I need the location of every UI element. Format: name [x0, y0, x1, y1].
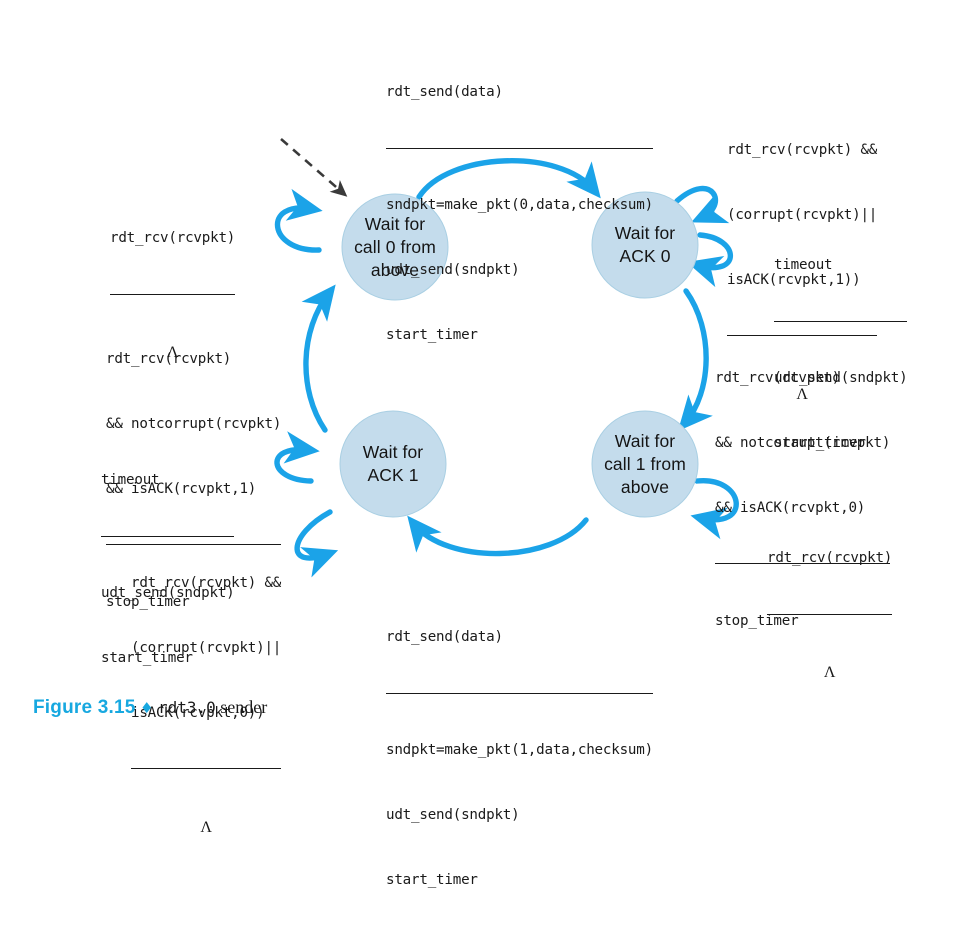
label-rule	[110, 294, 235, 295]
arc-call0-ignore	[277, 208, 319, 250]
event-line: rdt_rcv(rcvpkt)	[110, 228, 235, 250]
figure-subject-code: rdt3.0	[158, 698, 216, 717]
action-line: udt_send(sndpkt)	[386, 260, 653, 282]
action-line: sndpkt=make_pkt(0,data,checksum)	[386, 195, 653, 217]
transition-label-call0-ignore: rdt_rcv(rcvpkt) Λ	[110, 185, 235, 409]
label-rule	[131, 768, 281, 769]
action-line: start_timer	[386, 325, 653, 347]
event-line: rdt_send(data)	[386, 82, 653, 104]
event-line: && notcorrupt(rcvpkt)	[715, 433, 890, 455]
state-circle-wait-ack-1	[340, 411, 446, 517]
event-line: timeout	[774, 255, 907, 277]
label-rule	[106, 544, 281, 545]
event-line: rdt_rcv(rcvpkt)	[715, 368, 890, 390]
figure-subject-text: sender	[216, 697, 267, 717]
action-line: start_timer	[386, 870, 653, 892]
figure-canvas: Wait for call 0 from above Wait for ACK …	[0, 0, 968, 741]
label-rule	[386, 148, 653, 149]
transition-label-rdt-send-1: rdt_send(data) sndpkt=make_pkt(1,data,ch…	[386, 584, 653, 934]
event-line: && notcorrupt(rcvpkt)	[106, 414, 281, 436]
action-line: udt_send(sndpkt)	[386, 805, 653, 827]
transition-label-rdt-send-0: rdt_send(data) sndpkt=make_pkt(0,data,ch…	[386, 39, 653, 389]
state-circle-wait-call-1	[592, 411, 698, 517]
arc-ack1-good	[306, 293, 329, 430]
arc-ack1-corrupt	[297, 512, 330, 558]
arc-timeout-ack1	[277, 450, 311, 481]
label-rule	[774, 321, 907, 322]
label-rule	[767, 614, 892, 615]
lambda-symbol: Λ	[767, 661, 892, 685]
event-line: rdt_send(data)	[386, 627, 653, 649]
arc-timeout-ack0	[697, 235, 730, 268]
action-line: stop_timer	[106, 592, 281, 614]
lambda-symbol: Λ	[131, 816, 281, 840]
event-line: rdt_rcv(rcvpkt) &&	[727, 140, 877, 162]
lambda-symbol: Λ	[110, 341, 235, 365]
arc-ack0-good	[685, 291, 706, 423]
figure-number: Figure 3.15	[33, 697, 136, 718]
figure-caption: Figure 3.15 ♦ rdt3.0 sender	[33, 697, 267, 719]
label-rule	[386, 693, 653, 694]
initial-state-arrow	[281, 139, 343, 193]
event-line: && isACK(rcvpkt,1)	[106, 479, 281, 501]
diamond-icon: ♦	[140, 699, 153, 717]
arc-rdt-send-1	[414, 520, 586, 554]
transition-label-call1-ignore: rdt_rcv(rcvpkt) Λ	[767, 505, 892, 729]
event-line: rdt_rcv(rcvpkt)	[767, 548, 892, 570]
action-line: sndpkt=make_pkt(1,data,checksum)	[386, 740, 653, 762]
